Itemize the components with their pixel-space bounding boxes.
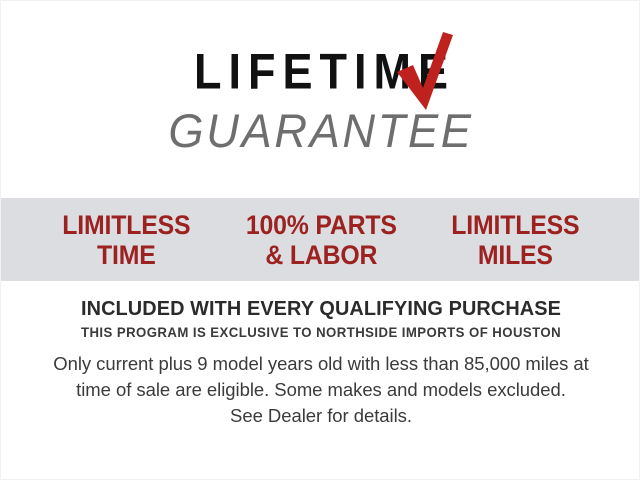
included-heading: INCLUDED WITH EVERY QUALIFYING PURCHASE bbox=[11, 297, 632, 321]
feature-line-1: LIMITLESS bbox=[426, 210, 605, 240]
fine-print-line: See Dealer for details. bbox=[1, 403, 640, 429]
feature-line-1: 100% PARTS bbox=[231, 210, 410, 240]
fine-print-line: Only current plus 9 model years old with… bbox=[1, 351, 640, 377]
logo-lifetime-wrap: LIFETIME bbox=[187, 49, 455, 101]
feature-column-limitless-miles: LIMITLESS MILES bbox=[426, 210, 605, 270]
feature-line-1: LIMITLESS bbox=[37, 210, 216, 240]
feature-column-parts-labor: 100% PARTS & LABOR bbox=[231, 210, 410, 270]
included-block: INCLUDED WITH EVERY QUALIFYING PURCHASE … bbox=[1, 297, 640, 342]
feature-band: LIMITLESS TIME 100% PARTS & LABOR LIMITL… bbox=[1, 198, 640, 281]
logo-guarantee-text: GUARANTEE bbox=[0, 105, 640, 159]
fine-print-block: Only current plus 9 model years old with… bbox=[1, 351, 640, 429]
fine-print-line: time of sale are eligible. Some makes an… bbox=[1, 377, 640, 403]
feature-column-limitless-time: LIMITLESS TIME bbox=[37, 210, 216, 270]
feature-line-2: MILES bbox=[426, 240, 605, 270]
feature-line-2: TIME bbox=[37, 240, 216, 270]
feature-line-2: & LABOR bbox=[231, 240, 410, 270]
included-subheading: THIS PROGRAM IS EXCLUSIVE TO NORTHSIDE I… bbox=[11, 323, 632, 342]
lifetime-guarantee-ad: LIFETIME GUARANTEE LIMITLESS TIME 100% P… bbox=[0, 0, 640, 480]
logo-block: LIFETIME GUARANTEE bbox=[1, 49, 640, 155]
logo-lifetime-text: LIFETIME bbox=[187, 43, 455, 101]
